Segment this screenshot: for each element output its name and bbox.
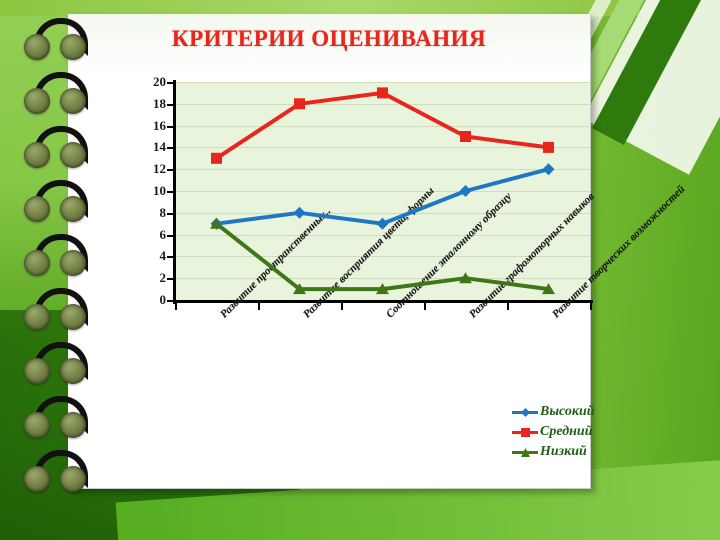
series-line xyxy=(217,93,549,158)
x-axis-tick xyxy=(175,303,177,310)
legend-item[interactable]: Высокий xyxy=(512,402,595,422)
series-layer xyxy=(175,82,590,300)
data-point-marker xyxy=(377,218,389,230)
x-axis-tick xyxy=(507,303,509,310)
data-point-marker xyxy=(543,142,554,153)
ring-hole-left xyxy=(24,88,50,114)
legend-swatch-icon xyxy=(512,445,538,459)
data-point-marker xyxy=(294,98,305,109)
series-line xyxy=(217,224,549,289)
x-axis-tick xyxy=(590,303,592,310)
y-axis-tick-label: 14 xyxy=(130,140,166,153)
series-line xyxy=(217,169,549,224)
y-axis-labels: 20181614121086420 xyxy=(120,60,166,320)
slide-canvas: КРИТЕРИИ ОЦЕНИВАНИЯ 20181614121086420 Ра… xyxy=(0,0,720,540)
ring-hole-left xyxy=(24,358,50,384)
legend-label: Высокий xyxy=(540,404,595,420)
y-axis-tick-label: 10 xyxy=(130,184,166,197)
ring-hole-left xyxy=(24,250,50,276)
y-axis-tick-label: 8 xyxy=(130,206,166,219)
ring-hole-left xyxy=(24,142,50,168)
y-axis-tick-label: 6 xyxy=(130,228,166,241)
chart-legend: ВысокийСреднийНизкий xyxy=(512,402,595,462)
y-axis-tick-label: 4 xyxy=(130,249,166,262)
data-point-marker xyxy=(543,163,555,175)
ring-hole-left xyxy=(24,196,50,222)
ring-hole-left xyxy=(24,34,50,60)
data-point-marker xyxy=(460,131,471,142)
data-point-marker xyxy=(460,185,472,197)
y-axis-tick-label: 12 xyxy=(130,162,166,175)
data-point-marker xyxy=(211,153,222,164)
data-point-marker xyxy=(377,87,388,98)
y-axis-tick-label: 16 xyxy=(130,119,166,132)
x-axis-tick xyxy=(258,303,260,310)
ring-hole-left xyxy=(24,466,50,492)
legend-label: Средний xyxy=(540,424,593,440)
x-axis-tick xyxy=(424,303,426,310)
y-axis-tick-label: 18 xyxy=(130,97,166,110)
data-point-marker xyxy=(294,207,306,219)
legend-item[interactable]: Средний xyxy=(512,422,595,442)
legend-swatch-icon xyxy=(512,425,538,439)
ring-hole-left xyxy=(24,304,50,330)
x-axis-tick xyxy=(341,303,343,310)
y-axis-tick-label: 2 xyxy=(130,271,166,284)
y-axis-tick-label: 0 xyxy=(130,293,166,306)
ring-hole-left xyxy=(24,412,50,438)
legend-label: Низкий xyxy=(540,444,587,460)
legend-item[interactable]: Низкий xyxy=(512,442,595,462)
page-title: КРИТЕРИИ ОЦЕНИВАНИЯ xyxy=(68,26,590,52)
legend-swatch-icon xyxy=(512,405,538,419)
legend-marker-icon xyxy=(521,428,530,437)
y-axis-tick-label: 20 xyxy=(130,75,166,88)
legend-marker-icon xyxy=(521,408,530,417)
